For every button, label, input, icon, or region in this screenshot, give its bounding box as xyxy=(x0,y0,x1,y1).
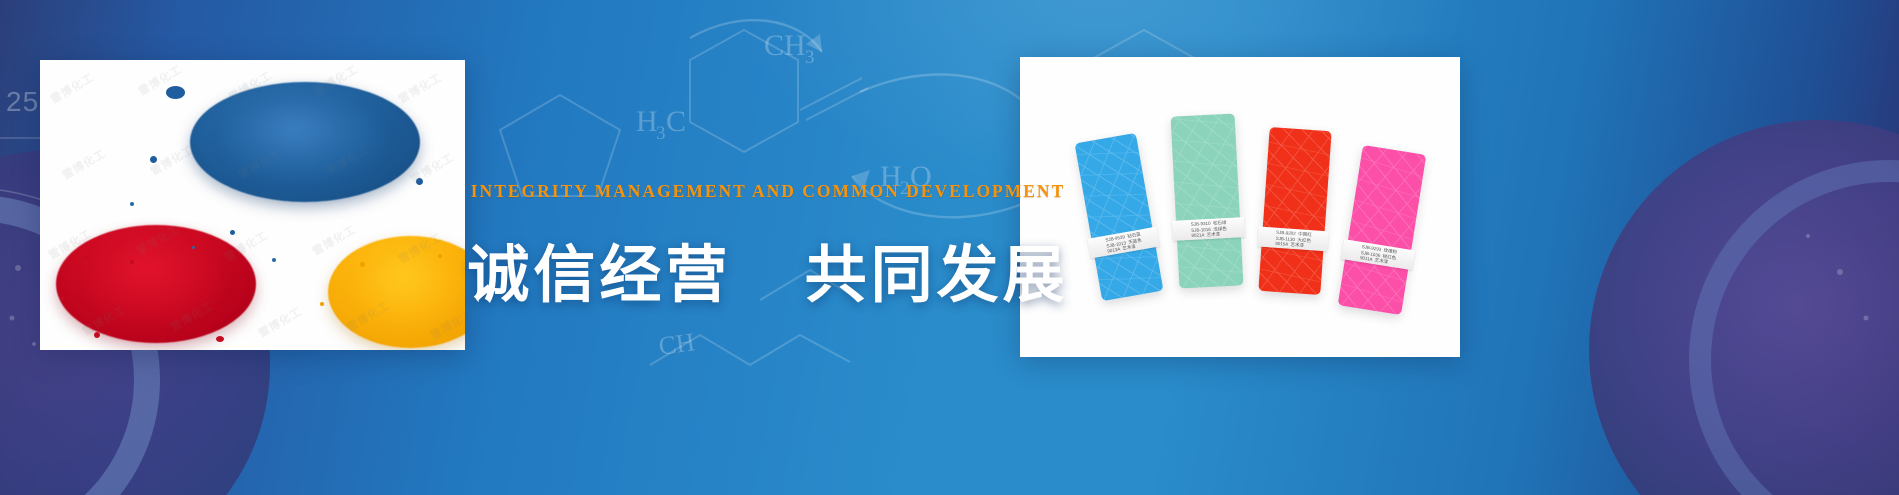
red-sample-card: SJB-9202 中国红 SJB-1130 大红色 9015A 艺术漆 xyxy=(1258,127,1331,295)
card-texture xyxy=(1171,113,1244,288)
card-code-3: 9013A xyxy=(1106,246,1119,253)
red-pigment-powder xyxy=(56,225,256,343)
card-code-3: 9021A xyxy=(1191,232,1204,238)
blue-pigment-powder xyxy=(190,82,420,202)
blue-sample-card: SJB-9539 钻石蓝 SJB-1013 天蓝色 9013A 艺术漆 xyxy=(1075,133,1164,301)
headline-part-1: 诚信经营 xyxy=(467,238,731,311)
color-sample-cards-photo: SJB-9539 钻石蓝 SJB-1013 天蓝色 9013A 艺术漆 SJB-… xyxy=(1020,57,1460,357)
right-circle-accent xyxy=(1589,120,1899,495)
card-name-3: 艺术漆 xyxy=(1374,257,1388,264)
banner-text-block: INTEGRITY MANAGEMENT AND COMMON DEVELOPM… xyxy=(478,0,1058,495)
promotional-banner: H3C CH3 H2O CH3 CH H H 250 xyxy=(0,0,1899,495)
yellow-pigment-powder xyxy=(328,236,465,348)
headline-part-2: 共同发展 xyxy=(805,238,1069,311)
card-texture xyxy=(1258,127,1331,295)
card-name-3: 艺术漆 xyxy=(1290,242,1304,248)
pink-sample-card: SJB-9293 玫瑰粉 SJB-1036 桃红色 9011A 艺术漆 xyxy=(1338,145,1427,315)
card-label-band: SJB-9310 松石绿 SJB-1016 浅绿色 9021A 艺术漆 xyxy=(1172,217,1245,241)
card-code-3: 9011A xyxy=(1359,255,1372,262)
card-texture xyxy=(1338,145,1427,315)
card-name-3: 艺术漆 xyxy=(1121,243,1135,250)
tagline-english: INTEGRITY MANAGEMENT AND COMMON DEVELOPM… xyxy=(471,181,1066,202)
card-code-3: 9015A xyxy=(1275,240,1288,246)
headline-chinese: 诚信经营 共同发展 xyxy=(467,224,1068,314)
card-name-3: 艺术漆 xyxy=(1206,231,1220,237)
mint-green-sample-card: SJB-9310 松石绿 SJB-1016 浅绿色 9021A 艺术漆 xyxy=(1171,113,1244,288)
right-ring-accent xyxy=(1689,160,1899,495)
card-texture xyxy=(1075,133,1164,301)
card-name-2: 浅绿色 xyxy=(1213,225,1227,231)
pigment-powder-photo: 雷博化工 雷博化工 雷博化工 雷博化工 雷博化工 雷博化工 雷博化工 雷博化工 … xyxy=(40,60,465,350)
